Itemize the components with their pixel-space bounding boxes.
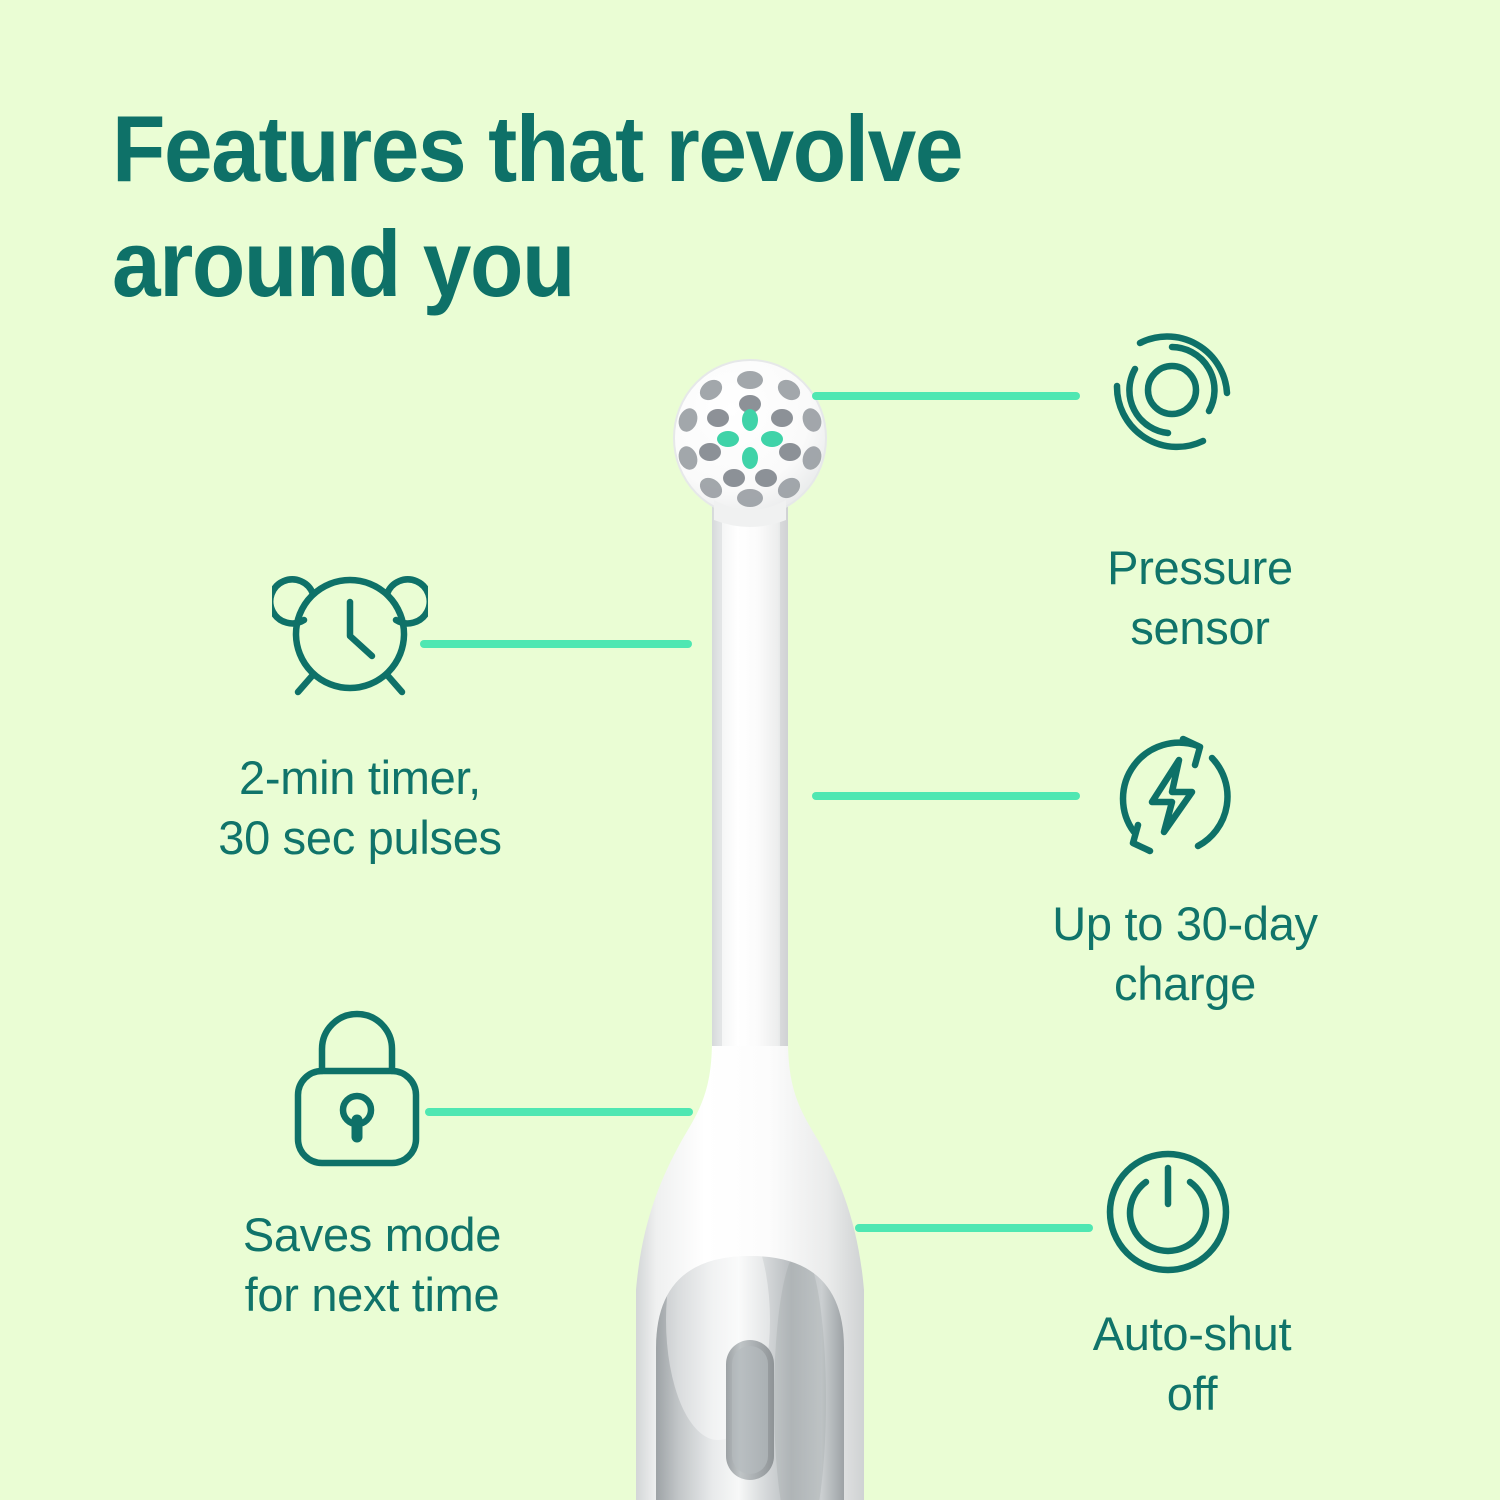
infographic-canvas: Features that revolve around you Pressur… — [0, 0, 1500, 1500]
connector-line-charge — [812, 792, 1080, 800]
connector-line-lock — [425, 1108, 693, 1116]
feature-label-auto-shut-off: Auto-shut off — [992, 1304, 1392, 1424]
pressure-sensor-icon — [1102, 320, 1242, 465]
feature-label-timer: 2-min timer, 30 sec pulses — [140, 748, 580, 868]
lock-icon — [284, 1005, 430, 1178]
alarm-clock-icon — [272, 558, 428, 713]
connector-line-timer — [420, 640, 692, 648]
handle-power-button — [726, 1340, 774, 1480]
handle-metal-panel — [656, 1256, 844, 1500]
connector-line-pressure — [812, 392, 1080, 400]
feature-label-charge: Up to 30-day charge — [970, 894, 1400, 1014]
connector-line-power — [855, 1224, 1093, 1232]
feature-label-saves-mode: Saves mode for next time — [152, 1205, 592, 1325]
feature-label-pressure: Pressure sensor — [1000, 538, 1400, 658]
page-title: Features that revolve around you — [112, 92, 1154, 321]
battery-charge-icon — [1100, 722, 1246, 873]
brush-neck — [712, 470, 788, 1046]
power-off-icon — [1098, 1142, 1238, 1287]
brush-handle — [636, 560, 864, 1500]
brush-head — [674, 360, 826, 527]
